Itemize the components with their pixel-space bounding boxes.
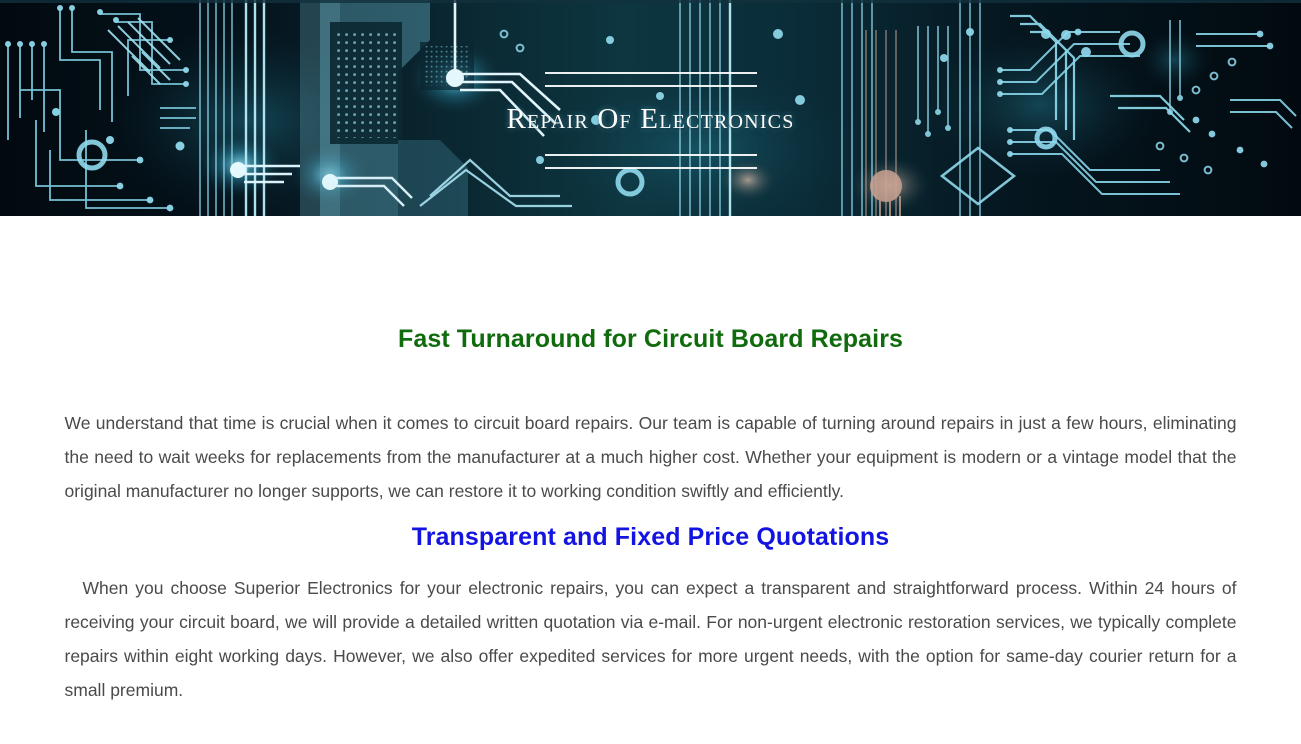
section-paragraph-transparent-pricing: When you choose Superior Electronics for… [65,552,1237,707]
circuit-board-artwork [0,0,1301,216]
section-paragraph-fast-turnaround: We understand that time is crucial when … [65,354,1237,508]
section-heading-fast-turnaround: Fast Turnaround for Circuit Board Repair… [65,216,1237,354]
page-banner: Repair Of Electronics [0,0,1301,216]
page-content: Fast Turnaround for Circuit Board Repair… [65,216,1237,707]
section-heading-transparent-pricing: Transparent and Fixed Price Quotations [65,508,1237,552]
